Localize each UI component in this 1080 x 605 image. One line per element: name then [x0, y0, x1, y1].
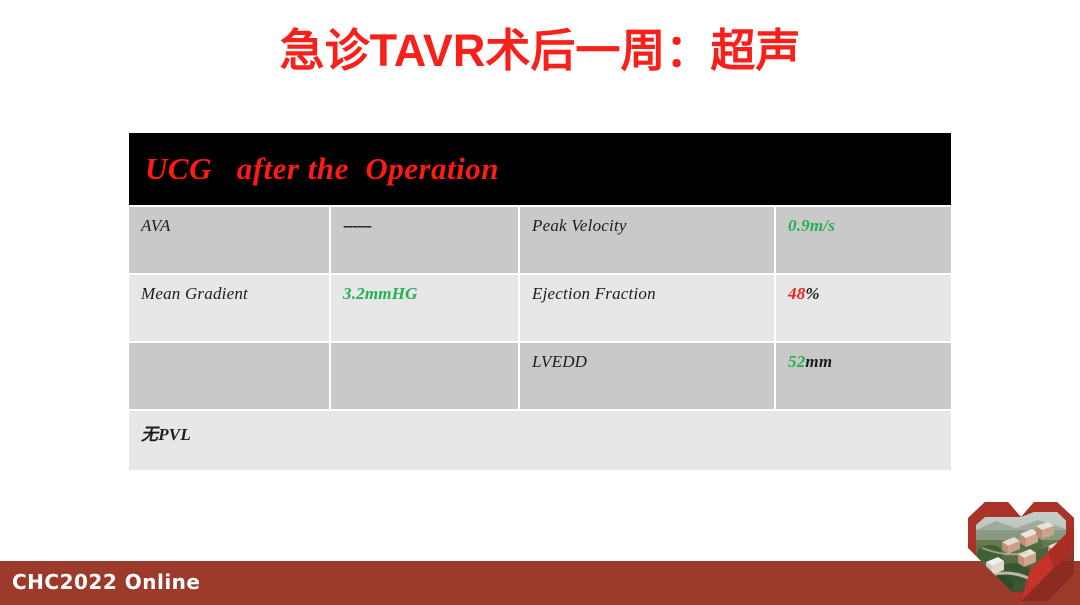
- cell-peak-velocity-value: 0.9m/s: [775, 206, 951, 274]
- ava-value: ------: [343, 216, 371, 235]
- ejection-fraction-unit: %: [805, 284, 819, 303]
- slide-canvas: 急诊TAVR术后一周：超声 UCG after the Operation AV…: [0, 0, 1080, 605]
- ucg-results-table: UCG after the Operation AVA ------ Peak …: [129, 133, 951, 470]
- pvl-note: 无PVL: [141, 425, 191, 444]
- ejection-fraction-label: Ejection Fraction: [532, 284, 656, 303]
- peak-velocity-label: Peak Velocity: [532, 216, 627, 235]
- ava-label: AVA: [141, 216, 171, 235]
- table-row: LVEDD 52mm: [129, 342, 951, 410]
- table-note-row: 无PVL: [129, 410, 951, 470]
- lvedd-value: 52: [788, 352, 805, 371]
- chc-heart-campus-logo: [962, 496, 1080, 605]
- cell-mean-gradient-label: Mean Gradient: [129, 274, 330, 342]
- cell-pvl-note: 无PVL: [129, 410, 951, 470]
- footer-brand-label: CHC2022 Online: [12, 570, 200, 594]
- cell-ejection-fraction-value: 48%: [775, 274, 951, 342]
- cell-mean-gradient-value: 3.2mmHG: [330, 274, 519, 342]
- cell-lvedd-value: 52mm: [775, 342, 951, 410]
- cell-ejection-fraction-label: Ejection Fraction: [519, 274, 775, 342]
- cell-ava-value: ------: [330, 206, 519, 274]
- table-row: AVA ------ Peak Velocity 0.9m/s: [129, 206, 951, 274]
- peak-velocity-value: 0.9m/s: [788, 216, 835, 235]
- ejection-fraction-value: 48: [788, 284, 805, 303]
- table-header-row: UCG after the Operation: [129, 133, 951, 206]
- lvedd-label: LVEDD: [532, 352, 587, 371]
- cell-peak-velocity-label: Peak Velocity: [519, 206, 775, 274]
- table-row: Mean Gradient 3.2mmHG Ejection Fraction …: [129, 274, 951, 342]
- lvedd-unit: mm: [805, 352, 832, 371]
- mean-gradient-value: 3.2mmHG: [343, 284, 418, 303]
- page-title: 急诊TAVR术后一周：超声: [0, 21, 1080, 81]
- cell-lvedd-label: LVEDD: [519, 342, 775, 410]
- table-header-label: UCG after the Operation: [145, 151, 499, 186]
- mean-gradient-label: Mean Gradient: [141, 284, 248, 303]
- table-header-cell: UCG after the Operation: [129, 133, 951, 206]
- cell-empty-label: [129, 342, 330, 410]
- cell-ava-label: AVA: [129, 206, 330, 274]
- cell-empty-value: [330, 342, 519, 410]
